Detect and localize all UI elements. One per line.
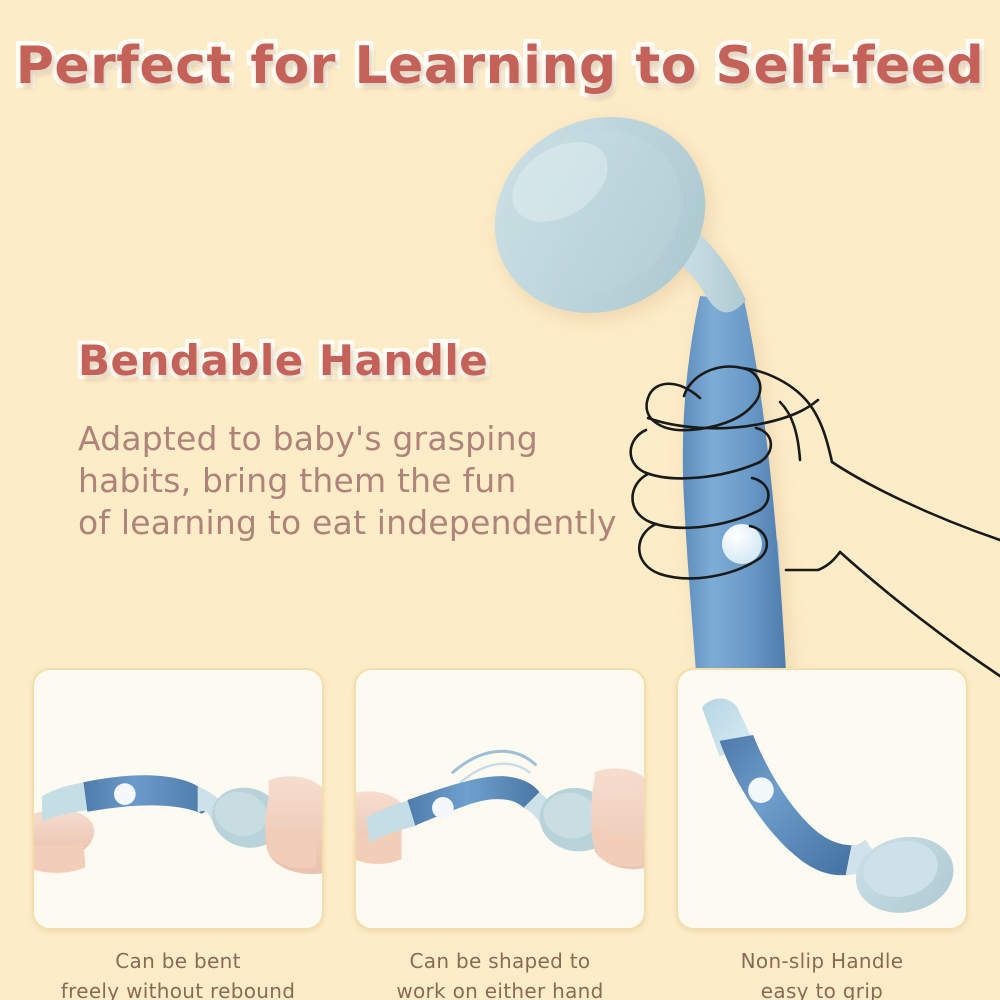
- spoon-bent-sharply-with-motion-arc-icon: [356, 670, 644, 928]
- caption-line-1: Can be shaped to: [354, 946, 646, 976]
- page-title: Perfect for Learning to Self-feed: [0, 36, 1000, 96]
- handle-grip-dot: [722, 524, 762, 564]
- feature-description-line-1: Adapted to baby's grasping: [78, 418, 698, 460]
- product-infographic: Perfect for Learning to Self-feed: [0, 0, 1000, 1000]
- spoon-bent-gently-in-two-hands-icon: [34, 670, 322, 928]
- caption-non-slip-handle: Non-slip Handle easy to grip: [676, 946, 968, 1000]
- feature-card-bend-freely: Can be bent freely without rebound: [32, 668, 324, 1000]
- feature-card-shape-either-hand: Can be shaped to work on either hand: [354, 668, 646, 1000]
- feature-description: Adapted to baby's grasping habits, bring…: [78, 418, 698, 544]
- feature-subheading: Bendable Handle: [78, 336, 488, 385]
- card-image-non-slip-handle: [676, 668, 968, 930]
- caption-shape-either-hand: Can be shaped to work on either hand: [354, 946, 646, 1000]
- feature-description-line-2: habits, bring them the fun: [78, 460, 698, 502]
- caption-line-2: easy to grip: [676, 976, 968, 1000]
- spoon-bowl: [460, 80, 740, 349]
- curved-spoon-standing-alone-icon: [678, 670, 966, 928]
- right-hand: [265, 776, 322, 874]
- card-image-shape-either-hand: [354, 668, 646, 930]
- caption-line-1: Non-slip Handle: [676, 946, 968, 976]
- caption-bend-freely: Can be bent freely without rebound: [32, 946, 324, 1000]
- feature-description-line-3: of learning to eat independently: [78, 502, 698, 544]
- card-image-bend-freely: [32, 668, 324, 930]
- feature-card-non-slip-handle: Non-slip Handle easy to grip: [676, 668, 968, 1000]
- spoon-graphic: [460, 80, 786, 672]
- right-hand: [591, 768, 644, 869]
- feature-card-row: Can be bent freely without rebound: [0, 668, 1000, 1000]
- caption-line-2: work on either hand: [354, 976, 646, 1000]
- caption-line-1: Can be bent: [32, 946, 324, 976]
- caption-line-2: freely without rebound: [32, 976, 324, 1000]
